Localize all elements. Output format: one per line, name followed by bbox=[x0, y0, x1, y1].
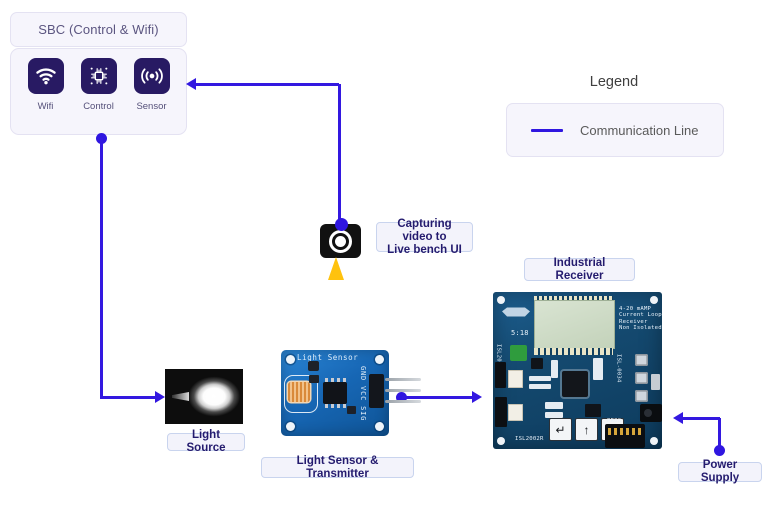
camera-indicator-dot bbox=[335, 218, 348, 231]
sensor-pin bbox=[385, 400, 421, 403]
lcd-display bbox=[534, 300, 615, 349]
callout-light-sensor: Light Sensor & Transmitter bbox=[261, 457, 414, 478]
mount-hole bbox=[286, 355, 295, 364]
mount-hole bbox=[375, 355, 384, 364]
sbc-title-card: SBC (Control & Wifi) bbox=[10, 12, 187, 47]
light-sensor-module: Light Sensor GND VCC SIG bbox=[281, 350, 389, 436]
arrow-into-receiver-power bbox=[673, 412, 683, 424]
photoresistor-component bbox=[288, 382, 310, 402]
legend-title: Legend bbox=[506, 74, 722, 90]
pin-header-left bbox=[495, 362, 506, 388]
mount-hole bbox=[650, 437, 658, 445]
callout-camera: Capturing video to Live bench UI bbox=[376, 222, 473, 252]
legend-card: Communication Line bbox=[506, 103, 724, 157]
smd-component bbox=[529, 376, 551, 381]
mount-hole bbox=[286, 422, 295, 431]
camera-beam-icon bbox=[328, 257, 344, 280]
sensor-pin-header bbox=[369, 374, 384, 408]
sbc-icon-control[interactable]: Control bbox=[75, 58, 123, 112]
mount-hole bbox=[497, 437, 505, 445]
idc-header bbox=[495, 397, 507, 427]
camera[interactable] bbox=[316, 218, 364, 278]
bulb-filament bbox=[172, 392, 189, 401]
camera-lens-center bbox=[335, 236, 346, 247]
white-connector bbox=[508, 404, 523, 421]
sbc-icon-label-wifi: Wifi bbox=[38, 101, 54, 112]
callout-light-sensor-text: Light Sensor & Transmitter bbox=[268, 455, 407, 481]
sbc-icon-label-sensor: Sensor bbox=[136, 101, 166, 112]
arrow-into-receiver bbox=[472, 391, 482, 403]
manufacturer-logo bbox=[502, 306, 530, 318]
smd-component bbox=[531, 358, 543, 369]
programming-pins bbox=[608, 428, 642, 435]
wire-sbc-to-light-source bbox=[100, 396, 155, 399]
callout-power-supply: Power Supply bbox=[678, 462, 762, 482]
sbc-panel: Wifi bbox=[10, 48, 187, 135]
smd-component bbox=[529, 384, 551, 389]
enter-button[interactable]: ↵ bbox=[549, 418, 572, 441]
smd-component bbox=[593, 358, 603, 380]
up-button-glyph: ↑ bbox=[584, 424, 590, 436]
sensor-pin-labels: GND VCC SIG bbox=[359, 366, 367, 421]
up-button[interactable]: ↑ bbox=[575, 418, 598, 441]
white-connector bbox=[508, 370, 523, 388]
receiver-silkscreen-block: 4-20 mAMP Current Loop Receiver Non Isol… bbox=[619, 306, 662, 332]
tactile-switch[interactable] bbox=[635, 390, 648, 402]
receiver-revision-bottom: ISL2002R bbox=[515, 436, 544, 442]
callout-light-source: Light Source bbox=[167, 433, 245, 451]
sensor-signal-icon bbox=[134, 58, 170, 94]
callout-industrial-receiver-text: Industrial Receiver bbox=[531, 257, 628, 283]
sbc-icon-row: Wifi bbox=[11, 58, 186, 112]
usb-connector bbox=[651, 374, 660, 390]
callout-camera-line1: Capturing video to bbox=[383, 218, 466, 244]
legend-item-label: Communication Line bbox=[580, 123, 699, 138]
smd-resistor-c1 bbox=[347, 406, 356, 414]
mount-hole bbox=[650, 296, 658, 304]
tactile-switch[interactable] bbox=[635, 372, 648, 384]
diagram-canvas: SBC (Control & Wifi) Wifi bbox=[0, 0, 768, 522]
mount-hole bbox=[497, 296, 505, 304]
receiver-display-code: 5:18 bbox=[511, 330, 529, 336]
wire-camera-vertical bbox=[338, 84, 341, 224]
legend-swatch-communication-line bbox=[531, 129, 563, 132]
microcontroller bbox=[562, 371, 588, 397]
arrow-into-light-source bbox=[155, 391, 165, 403]
mount-hole bbox=[375, 422, 384, 431]
smd-component bbox=[551, 360, 558, 378]
callout-industrial-receiver: Industrial Receiver bbox=[524, 258, 635, 281]
crystal-component bbox=[585, 404, 601, 417]
prog-label: PROG bbox=[607, 418, 621, 424]
wire-sensor-to-receiver bbox=[402, 396, 472, 399]
receiver-side-text: ISL-0034 bbox=[615, 354, 621, 383]
wire-sbc-vertical bbox=[100, 138, 103, 398]
sensor-pin bbox=[385, 389, 421, 392]
sensor-silkscreen-title: Light Sensor bbox=[297, 353, 358, 362]
sbc-title: SBC (Control & Wifi) bbox=[38, 22, 158, 37]
light-source-image bbox=[165, 369, 243, 424]
callout-light-source-text: Light Source bbox=[174, 429, 238, 455]
wire-power-horizontal bbox=[683, 417, 720, 420]
sensor-pin bbox=[385, 378, 421, 381]
wire-power-vertical bbox=[718, 418, 721, 448]
industrial-receiver-board: 5:18 ISL2002X ISL2002R ISL-0034 4-20 mAM… bbox=[493, 292, 662, 449]
wifi-icon bbox=[28, 58, 64, 94]
enter-button-glyph: ↵ bbox=[555, 424, 565, 436]
lcd-pins-bottom bbox=[534, 348, 613, 355]
tactile-switch[interactable] bbox=[635, 354, 648, 366]
dc-power-jack bbox=[640, 404, 662, 422]
callout-camera-line2: Live bench UI bbox=[387, 244, 462, 257]
chip-icon bbox=[81, 58, 117, 94]
arrow-into-sbc bbox=[186, 78, 196, 90]
smd-resistor-r2 bbox=[309, 375, 319, 383]
sbc-icon-wifi[interactable]: Wifi bbox=[22, 58, 70, 112]
callout-power-supply-text: Power Supply bbox=[685, 459, 755, 485]
wire-camera-horizontal bbox=[196, 83, 339, 86]
sbc-icon-label-control: Control bbox=[83, 101, 114, 112]
smd-resistor-r3 bbox=[308, 361, 319, 371]
green-terminal-block bbox=[510, 345, 527, 361]
smd-component bbox=[545, 402, 563, 409]
sbc-icon-sensor[interactable]: Sensor bbox=[128, 58, 176, 112]
comparator-ic bbox=[323, 382, 347, 404]
